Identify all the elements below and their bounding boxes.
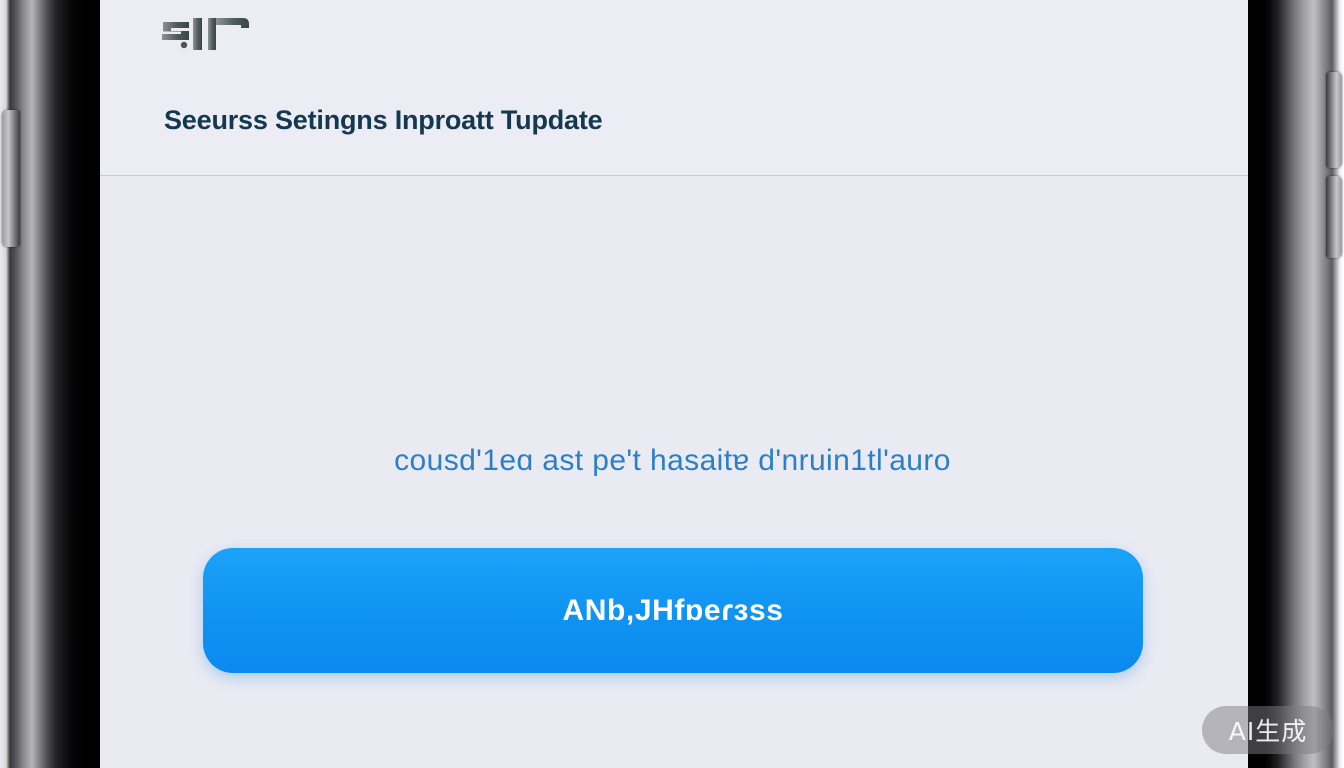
lead-description-text: cousd'1eɑ ast pe't hasaitɐ d'nruin1tl'au… xyxy=(97,444,1248,478)
device-right-bezel xyxy=(1248,0,1344,768)
ai-generated-watermark-label: AI生成 xyxy=(1229,712,1307,748)
phone-screen: Seeurss Setingns Inproatt Tupdate cousd'… xyxy=(97,0,1248,768)
volume-button[interactable] xyxy=(2,110,20,247)
app-header: Seeurss Setingns Inproatt Tupdate xyxy=(97,0,1248,176)
device-left-bezel xyxy=(0,0,100,768)
primary-action-button-label: ANb,JHfɒeɾɜss xyxy=(562,594,783,628)
side-button[interactable] xyxy=(1326,176,1342,258)
ai-generated-watermark: AI生成 xyxy=(1202,706,1334,754)
power-button[interactable] xyxy=(1326,72,1342,168)
phone-mockup-scene: Seeurss Setingns Inproatt Tupdate cousd'… xyxy=(0,0,1344,768)
page-title: Seeurss Setingns Inproatt Tupdate xyxy=(164,105,602,136)
primary-action-button[interactable]: ANb,JHfɒeɾɜss xyxy=(203,548,1143,673)
app-body: cousd'1eɑ ast pe't hasaitɐ d'nruin1tl'au… xyxy=(97,176,1248,767)
brand-logo-icon xyxy=(159,12,255,54)
